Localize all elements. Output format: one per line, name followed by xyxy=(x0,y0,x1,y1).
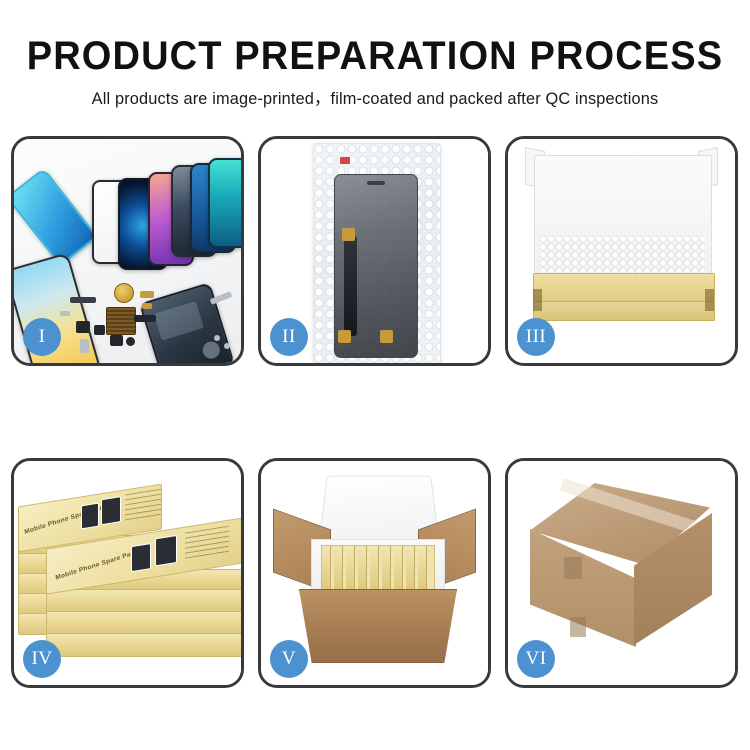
process-step-panel-5: V xyxy=(258,458,491,688)
step-3-photo: III xyxy=(508,139,735,363)
bubble-wrap-bag xyxy=(313,143,441,363)
carton-mark-lower xyxy=(570,617,586,637)
retail-box-label: Mobile Phone Spare Parts xyxy=(55,548,140,581)
step-badge-6: VI xyxy=(517,640,555,678)
retail-box-side xyxy=(46,589,241,613)
product-preparation-infographic: PRODUCT PREPARATION PROCESS All products… xyxy=(0,0,750,750)
step-badge-5: V xyxy=(270,640,308,678)
retail-box-spec-lines xyxy=(185,526,229,559)
retail-box-spec-lines xyxy=(125,487,162,520)
flex-connector-bottom-right xyxy=(380,330,393,343)
box-corner-right xyxy=(705,289,714,311)
carton-mark-upper xyxy=(564,557,582,579)
step-1-photo: I xyxy=(14,139,241,363)
gold-contact-component xyxy=(140,291,154,298)
sealed-shipping-carton xyxy=(522,483,722,659)
retail-box-window-right xyxy=(101,496,121,525)
process-step-panel-3: III xyxy=(505,136,738,366)
flex-connector-bottom-left xyxy=(338,330,351,343)
step-4-photo: Mobile Phone Spare Parts Mobile Phone Sp… xyxy=(14,461,241,685)
process-step-grid: I II xyxy=(11,136,739,688)
process-step-panel-4: Mobile Phone Spare Parts Mobile Phone Sp… xyxy=(11,458,244,688)
screw-component xyxy=(224,343,230,349)
retail-box-side xyxy=(46,633,241,657)
flex-cable xyxy=(344,236,357,336)
flex-connector-top xyxy=(342,228,355,241)
phone-screen-cyan xyxy=(208,158,241,248)
bracket-component xyxy=(76,321,90,333)
process-step-panel-2: II xyxy=(258,136,491,366)
screw-component xyxy=(214,335,220,341)
step-badge-3: III xyxy=(517,318,555,356)
step-6-photo: VI xyxy=(508,461,735,685)
retail-box-side xyxy=(46,611,241,635)
step-5-photo: V xyxy=(261,461,488,685)
step-badge-1: I xyxy=(23,318,61,356)
process-step-panel-1: I xyxy=(11,136,244,366)
page-title: PRODUCT PREPARATION PROCESS xyxy=(19,34,732,78)
camera-module-component xyxy=(110,335,123,346)
step-badge-2: II xyxy=(270,318,308,356)
small-bracket-component xyxy=(60,311,70,316)
kraft-box-front-wall xyxy=(533,301,715,321)
step-2-photo: II xyxy=(261,139,488,363)
speaker-component xyxy=(114,283,134,303)
button-component xyxy=(94,325,105,335)
retail-box-window-right xyxy=(155,535,177,566)
packed-retail-boxes xyxy=(321,545,435,591)
sim-tray-component xyxy=(80,339,89,353)
header: PRODUCT PREPARATION PROCESS All products… xyxy=(0,34,750,109)
screw-component xyxy=(126,337,135,346)
retail-box-window-left xyxy=(81,503,99,530)
flex-cable-component xyxy=(134,315,156,322)
red-label-sticker xyxy=(340,157,350,164)
step-badge-4: IV xyxy=(23,640,61,678)
page-subtitle: All products are image-printed，film-coat… xyxy=(4,85,747,109)
connector-grid-component xyxy=(106,307,136,335)
gold-contact-component xyxy=(142,303,152,309)
flex-strip-component xyxy=(70,297,96,303)
process-step-panel-6: VI xyxy=(505,458,738,688)
retail-box-window-left xyxy=(131,543,151,572)
box-corner-left xyxy=(533,289,542,311)
carton-front-wall xyxy=(299,589,457,663)
phone-screen-teal xyxy=(14,168,98,267)
